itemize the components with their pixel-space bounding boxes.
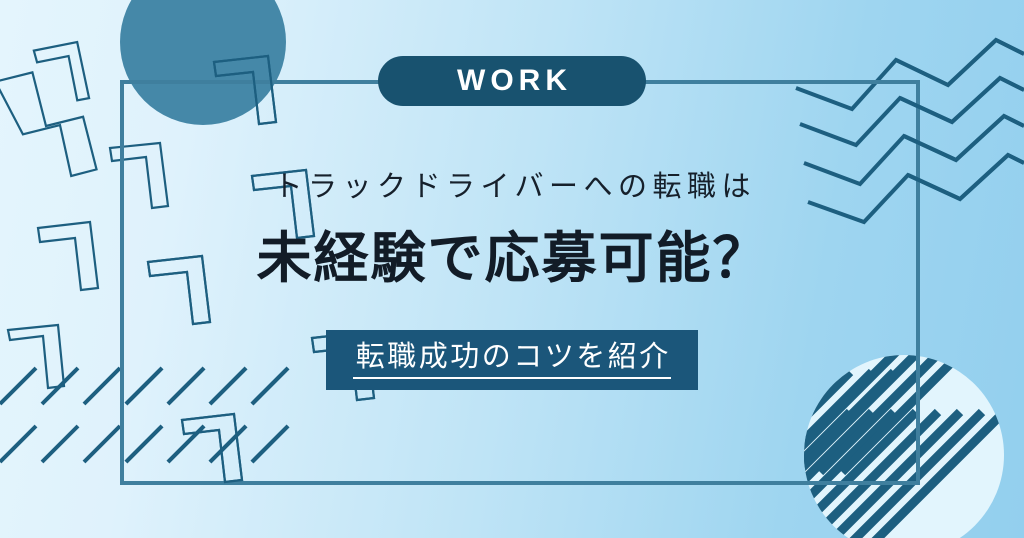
work-badge-label: WORK xyxy=(452,66,572,96)
cta-banner[interactable]: 転職成功のコツを紹介 xyxy=(326,330,698,390)
work-badge: WORK xyxy=(378,56,646,106)
work-banner: WORK トラックドライバーへの転職は 未経験で応募可能？ 転職成功のコツを紹介 xyxy=(0,0,1024,538)
subtitle-text: トラックドライバーへの転職は xyxy=(268,173,756,202)
cta-banner-label: 転職成功のコツを紹介 xyxy=(353,339,671,379)
headline-text: 未経験で応募可能？ xyxy=(254,230,769,288)
